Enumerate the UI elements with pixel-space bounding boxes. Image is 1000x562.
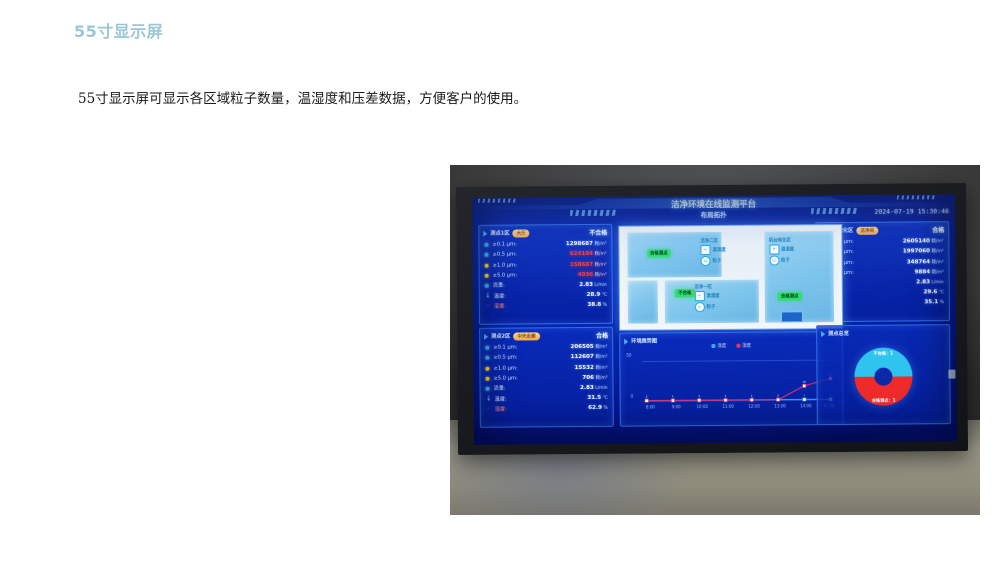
legend-label: 温度 bbox=[717, 343, 726, 349]
sensor-temp-label: 温湿度 bbox=[706, 293, 719, 299]
row-value: 62.9% bbox=[588, 405, 608, 411]
particle-dot-icon bbox=[484, 243, 488, 247]
row-unit: L/min bbox=[595, 386, 607, 391]
panel-title: 测点1区 bbox=[490, 230, 509, 237]
chart-plot-area: 50 0 111111111111111827 8:00 9:00 10:00 … bbox=[642, 354, 834, 412]
humidity-icon: ◌ bbox=[486, 406, 492, 412]
sensor-group-lower[interactable]: 洁净一区 ⑂ 温湿度 ☺ 粒子 bbox=[694, 284, 719, 312]
row-label: ≥0.5 μm: bbox=[492, 252, 516, 258]
triangle-icon bbox=[624, 338, 628, 344]
panel-badge: 大厅 bbox=[512, 229, 529, 237]
status-badge: 合格 bbox=[596, 331, 608, 340]
sensor-zone-name: 机台纯化区 bbox=[769, 237, 794, 243]
panel-title: 测点总览 bbox=[828, 330, 849, 337]
panel-header: 测点1区 大厅 不合格 bbox=[483, 228, 607, 238]
triangle-icon bbox=[821, 331, 825, 337]
row-unit: 颗/m³ bbox=[595, 252, 607, 257]
row-value: 706颗/m³ bbox=[582, 375, 607, 381]
row-value: 2.83L/min bbox=[579, 282, 607, 288]
sensor-particle-label: 粒子 bbox=[781, 257, 790, 263]
svg-text:1: 1 bbox=[725, 394, 727, 398]
floor-plan: 合格测点 不合格 合格测点 洁净二区 ⑂ 温湿度 ☺ 粒子 bbox=[623, 229, 838, 326]
row-unit: ℃ bbox=[602, 293, 607, 298]
row-label: ≥1.0 μm: bbox=[493, 262, 517, 268]
legend-swatch-temperature bbox=[711, 344, 715, 348]
particle-dot-icon bbox=[485, 356, 489, 360]
row-value: 9884颗/m³ bbox=[915, 269, 944, 275]
y-axis-tick-max: 50 bbox=[626, 353, 631, 358]
particle-sensor-icon: ☺ bbox=[769, 255, 779, 265]
row-unit: 颗/m³ bbox=[595, 262, 607, 267]
row-value: 348764颗/m³ bbox=[907, 259, 944, 265]
svg-text:1: 1 bbox=[646, 395, 648, 399]
x-axis-tick: 9:00 bbox=[672, 404, 681, 409]
panel-header: 测点总览 bbox=[821, 328, 945, 338]
panel-bottom-left[interactable]: 测点2区 中央走廊 合格 ≥0.1 μm: 206505颗/m³ ≥0.5 μm… bbox=[479, 327, 614, 428]
row-label: 湿度: bbox=[494, 302, 506, 309]
svg-text:1: 1 bbox=[698, 394, 700, 398]
svg-text:1: 1 bbox=[804, 393, 806, 397]
chart-legend: 温度 湿度 bbox=[711, 343, 751, 349]
row-value: 4036颗/m³ bbox=[578, 272, 607, 278]
dashboard-header: 洁净环境在线监测平台 布局拓扑 2024-07-19 15:30:46 bbox=[472, 194, 955, 223]
panel-header: 测点2区 中央走廊 合格 bbox=[484, 331, 608, 341]
tv-bezel: 洁净环境在线监测平台 布局拓扑 2024-07-19 15:30:46 测点1区… bbox=[456, 183, 968, 455]
svg-text:1: 1 bbox=[672, 394, 674, 398]
row-unit: 颗/m³ bbox=[931, 239, 943, 244]
row-unit: 颗/m³ bbox=[595, 365, 607, 370]
particle-sensor-icon: ☺ bbox=[701, 256, 711, 266]
legend-label: 湿度 bbox=[742, 343, 751, 349]
donut-label-unqualified: 不合格：1 bbox=[873, 351, 893, 357]
panel-top-left[interactable]: 测点1区 大厅 不合格 ≥0.1 μm: 1298687颗/m³ ≥0.5 μm… bbox=[478, 224, 613, 325]
x-axis-tick: 14:00 bbox=[800, 403, 812, 408]
panel-badge: 洁净间 bbox=[856, 226, 878, 234]
row-unit: 颗/m³ bbox=[596, 376, 608, 381]
status-badge: 不合格 bbox=[589, 228, 607, 237]
panel-title: 测点2区 bbox=[491, 333, 510, 340]
header-deco-left-icon bbox=[570, 210, 616, 216]
x-axis-tick: 13:00 bbox=[774, 403, 786, 408]
header-deco-top-right-icon bbox=[897, 195, 937, 199]
donut-label-qualified: 合格测点：1 bbox=[872, 398, 896, 404]
x-axis-tick: 11:00 bbox=[722, 404, 734, 409]
sensor-temp-row: ⑂ 温湿度 bbox=[769, 244, 794, 254]
dashboard-subtitle: 布局拓扑 bbox=[701, 209, 727, 219]
row-value: 38.8% bbox=[587, 302, 607, 308]
row-unit: 颗/m³ bbox=[932, 270, 944, 275]
row-value: 35.1% bbox=[924, 299, 944, 305]
row-label: 流量: bbox=[493, 282, 505, 289]
svg-text:18: 18 bbox=[803, 380, 806, 384]
row-unit: 颗/m³ bbox=[595, 355, 607, 360]
particle-dot-icon bbox=[484, 253, 488, 257]
sensor-particle-row: ☺ 粒子 bbox=[694, 302, 719, 312]
row-value: 624104颗/m³ bbox=[570, 251, 607, 257]
particle-dot-icon bbox=[485, 263, 489, 267]
thermometer-icon: 🌡 bbox=[486, 396, 492, 402]
row-value: 1997060颗/m³ bbox=[903, 248, 944, 254]
room-tag-upper-left: 合格测点 bbox=[647, 249, 671, 257]
header-deco-top-left-icon bbox=[478, 199, 518, 203]
flow-icon bbox=[486, 387, 490, 391]
donut-hole bbox=[874, 368, 892, 386]
temperature-humidity-icon: ⑂ bbox=[700, 245, 710, 255]
row-value: 206505颗/m³ bbox=[570, 344, 607, 350]
row-unit: 颗/m³ bbox=[595, 345, 607, 350]
flow-icon bbox=[485, 284, 489, 288]
row-value: 2605140颗/m³ bbox=[903, 238, 944, 244]
room-tag-right: 合格测点 bbox=[778, 292, 802, 300]
floor-plan-panel[interactable]: 合格测点 不合格 合格测点 洁净二区 ⑂ 温湿度 ☺ 粒子 bbox=[618, 224, 843, 331]
page-title: 55寸显示屏 bbox=[74, 18, 163, 42]
sensor-temp-label: 温湿度 bbox=[712, 246, 725, 252]
line-chart-panel[interactable]: 环境趋势图 温度 湿度 50 0 111111111111111827 bbox=[619, 331, 844, 427]
temperature-humidity-icon: ⑂ bbox=[769, 244, 779, 254]
legend-item[interactable]: 温度 bbox=[711, 343, 726, 349]
row-label: 温度: bbox=[494, 292, 506, 299]
row-value: 28.9℃ bbox=[587, 292, 607, 298]
row-label: ≥0.1 μm: bbox=[493, 345, 517, 351]
row-label: ≥1.0 μm: bbox=[493, 365, 517, 371]
sensor-zone-name: 洁净二区 bbox=[700, 237, 725, 243]
table-row: ◌ 湿度: 62.9% bbox=[486, 403, 608, 414]
donut-chart-panel[interactable]: 测点总览 不合格：1 合格测点：1 bbox=[816, 324, 951, 425]
row-unit: L/min bbox=[931, 280, 943, 285]
row-label: 湿度: bbox=[495, 405, 507, 412]
panel-rows: ≥0.1 μm: 206505颗/m³ ≥0.5 μm: 112607颗/m³ … bbox=[485, 342, 608, 424]
room-tag-lower-middle: 不合格 bbox=[675, 289, 694, 297]
triangle-icon bbox=[483, 230, 487, 236]
row-unit: % bbox=[940, 300, 944, 305]
row-unit: 颗/m³ bbox=[595, 273, 607, 278]
row-unit: % bbox=[603, 303, 607, 308]
row-value: 2.83L/min bbox=[916, 279, 944, 285]
svg-text:1: 1 bbox=[751, 394, 753, 398]
row-value: 158687颗/m³ bbox=[570, 261, 607, 267]
room-lower-left-narrow[interactable] bbox=[628, 281, 658, 324]
panel-badge: 中央走廊 bbox=[513, 332, 539, 340]
thermometer-icon: 🌡 bbox=[485, 293, 491, 299]
row-label: ≥5.0 μm: bbox=[493, 375, 517, 381]
svg-text:1: 1 bbox=[777, 394, 779, 398]
dashboard-timestamp: 2024-07-19 15:30:46 bbox=[875, 208, 950, 216]
row-value: 112607颗/m³ bbox=[570, 354, 607, 360]
screen-side-button[interactable] bbox=[948, 370, 955, 379]
sensor-group-right[interactable]: 机台纯化区 ⑂ 温湿度 ☺ 粒子 bbox=[769, 237, 794, 265]
row-value: 29.6℃ bbox=[924, 289, 944, 295]
row-label: 流量: bbox=[494, 385, 506, 392]
row-unit: 颗/m³ bbox=[932, 260, 944, 265]
row-unit: ℃ bbox=[939, 290, 944, 295]
particle-dot-icon bbox=[485, 273, 489, 277]
x-axis-tick: 12:00 bbox=[748, 404, 760, 409]
humidity-icon: ◌ bbox=[485, 303, 491, 309]
sensor-particle-row: ☺ 粒子 bbox=[769, 255, 794, 265]
dashboard-screen: 洁净环境在线监测平台 布局拓扑 2024-07-19 15:30:46 测点1区… bbox=[472, 194, 957, 445]
sensor-temp-row: ⑂ 温湿度 bbox=[694, 291, 719, 301]
particle-dot-icon bbox=[485, 376, 489, 380]
row-label: ≥0.5 μm: bbox=[493, 355, 517, 361]
sensor-particle-row: ☺ 粒子 bbox=[701, 255, 726, 265]
table-row: ◌ 湿度: 38.8% bbox=[485, 300, 607, 311]
row-label: 温度: bbox=[495, 395, 507, 402]
row-unit: % bbox=[603, 406, 607, 411]
sensor-particle-label: 粒子 bbox=[713, 258, 722, 264]
panel-rows: ≥0.1 μm: 1298687颗/m³ ≥0.5 μm: 624104颗/m³… bbox=[484, 239, 607, 321]
particle-dot-icon bbox=[485, 366, 489, 370]
row-unit: L/min bbox=[594, 283, 606, 288]
y-axis-tick-min: 0 bbox=[631, 394, 634, 399]
sensor-temp-label: 温湿度 bbox=[781, 246, 794, 252]
legend-item[interactable]: 湿度 bbox=[736, 343, 751, 349]
particle-dot-icon bbox=[485, 346, 489, 350]
row-value: 31.5℃ bbox=[587, 395, 607, 401]
display-photo: 洁净环境在线监测平台 布局拓扑 2024-07-19 15:30:46 测点1区… bbox=[450, 165, 980, 515]
particle-sensor-icon: ☺ bbox=[694, 302, 704, 312]
row-value: 1298687颗/m³ bbox=[566, 241, 607, 247]
row-unit: 颗/m³ bbox=[594, 242, 606, 247]
row-value: 15532颗/m³ bbox=[574, 364, 607, 370]
row-unit: ℃ bbox=[603, 396, 608, 401]
page-body-text: 55寸显示屏可显示各区域粒子数量，温湿度和压差数据，方便客户的使用。 bbox=[78, 88, 638, 110]
x-axis-tick: 8:00 bbox=[646, 404, 655, 409]
row-value: 2.83L/min bbox=[580, 385, 608, 391]
row-unit: 颗/m³ bbox=[932, 249, 944, 254]
sensor-group-upper[interactable]: 洁净二区 ⑂ 温湿度 ☺ 粒子 bbox=[700, 237, 725, 265]
x-axis-tick: 10:00 bbox=[696, 404, 708, 409]
legend-swatch-humidity bbox=[736, 344, 740, 348]
sensor-zone-name: 洁净一区 bbox=[694, 284, 719, 290]
row-label: ≥5.0 μm: bbox=[493, 272, 517, 278]
sensor-temp-row: ⑂ 温湿度 bbox=[700, 244, 725, 254]
panel-title: 环境趋势图 bbox=[631, 337, 657, 344]
floor-plan-blue-marker bbox=[781, 311, 802, 323]
temperature-humidity-icon: ⑂ bbox=[694, 291, 704, 301]
sensor-particle-label: 粒子 bbox=[706, 304, 715, 310]
row-label: ≥0.1 μm: bbox=[492, 242, 516, 248]
triangle-icon bbox=[484, 333, 488, 339]
header-deco-right-icon bbox=[811, 208, 857, 214]
status-badge: 合格 bbox=[932, 225, 944, 234]
